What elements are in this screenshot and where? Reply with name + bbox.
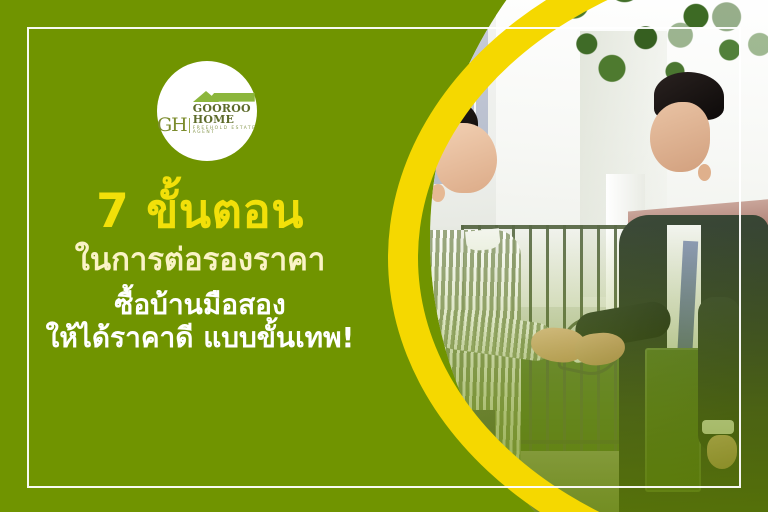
logo-lockup: GH GOOROO HOME FREEHOLD ESTATE AGENT [157,89,257,136]
woman-hair-bun [330,148,360,182]
logo-tagline: FREEHOLD ESTATE AGENT [193,127,257,136]
logo-badge: GH GOOROO HOME FREEHOLD ESTATE AGENT [157,61,257,161]
logo-wordmark-group: GOOROO HOME FREEHOLD ESTATE AGENT [193,89,257,136]
headline-block: 7 ขั้นตอน ในการต่อรองราคา ซื้อบ้านมือสอง… [0,186,400,353]
logo-company-name: GOOROO HOME [193,103,257,125]
house-roof-icon [193,89,255,102]
headline-line-2: ในการต่อรองราคา [0,243,400,278]
logo-monogram: GH [157,116,190,135]
promo-banner: GH GOOROO HOME FREEHOLD ESTATE AGENT 7 ข… [0,0,768,512]
headline-line-4: ให้ได้ราคาดี แบบขั้นเทพ! [0,322,400,353]
headline-line-1: 7 ขั้นตอน [0,186,400,239]
headline-line-3: ซื้อบ้านมือสอง [0,289,400,320]
